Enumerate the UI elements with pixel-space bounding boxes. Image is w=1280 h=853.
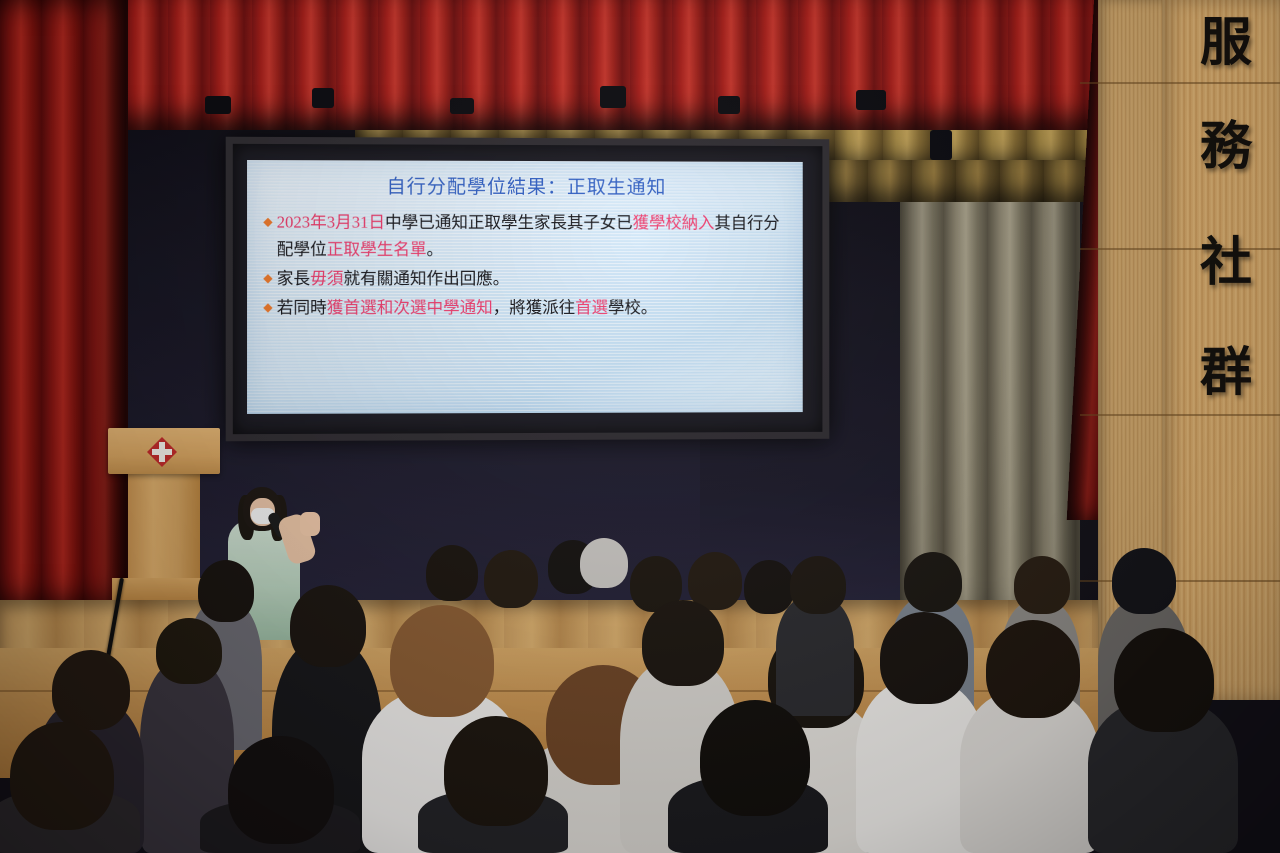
audience-member <box>880 612 968 704</box>
wood-wall-seam-3 <box>1080 414 1280 416</box>
bullet-2-seg-1: 家長 <box>277 269 310 288</box>
audience-member <box>1112 548 1176 614</box>
audience-member <box>1114 628 1214 732</box>
stage-light-4 <box>600 86 626 108</box>
bullet-3-seg-3: ，將獲派往 <box>493 298 575 317</box>
audience-member <box>228 736 334 844</box>
bullet-1-date: 2023年3月31日 <box>277 212 385 231</box>
audience-member <box>10 722 114 830</box>
stage-light-1 <box>205 96 231 114</box>
podium-cross-emblem-icon <box>146 436 178 468</box>
audience-member <box>642 600 724 686</box>
bullet-diamond-icon: ◆ <box>263 208 272 235</box>
audience-member <box>580 538 628 588</box>
speaker-hand <box>300 512 320 536</box>
stage-light-5 <box>718 96 740 114</box>
slide-title: 自行分配學位結果：正取生通知 <box>247 171 803 200</box>
slide-bullet-2-text: 家長毋須就有關通知作出回應。 <box>277 265 785 292</box>
audience-member <box>744 560 794 614</box>
wall-character-1: 服 <box>1200 18 1252 70</box>
bullet-3-seg-2: 獲首選和次選中學通知 <box>327 298 493 317</box>
audience-member <box>156 618 222 684</box>
audience-member <box>776 596 854 716</box>
wall-character-3: 社 <box>1200 238 1252 290</box>
bullet-1-seg-3: 獲學校納入 <box>633 213 715 232</box>
wood-wall-seam-1 <box>1080 82 1280 84</box>
bullet-1-seg-2: 中學已通知正取學生家長其子女已 <box>385 213 633 232</box>
podium-column <box>128 472 200 582</box>
audience-member <box>52 650 130 730</box>
audience-member <box>1014 556 1070 614</box>
slide-bullet-2: ◆ 家長毋須就有關通知作出回應。 <box>263 265 785 292</box>
bullet-3-seg-4: 首選 <box>575 298 608 317</box>
slide-bullet-3-text: 若同時獲首選和次選中學通知，將獲派往首選學校。 <box>277 294 785 321</box>
bullet-2-seg-3: 就有關通知作出回應。 <box>343 269 509 288</box>
bullet-diamond-icon: ◆ <box>263 265 272 292</box>
audience-member <box>904 552 962 612</box>
projection-screen[interactable]: 自行分配學位結果：正取生通知 ◆ 2023年3月31日中學已通知正取學生家長其子… <box>226 137 830 442</box>
hall-scene: 自行分配學位結果：正取生通知 ◆ 2023年3月31日中學已通知正取學生家長其子… <box>0 0 1280 853</box>
audience-member <box>444 716 548 826</box>
audience-member <box>426 545 478 601</box>
audience-member <box>790 556 846 614</box>
stage-light-3 <box>450 98 474 114</box>
audience-member <box>986 620 1080 718</box>
stage-light-6 <box>856 90 886 110</box>
slide-bullet-1: ◆ 2023年3月31日中學已通知正取學生家長其子女已獲學校納入其自行分配學位正… <box>263 208 785 263</box>
audience-member <box>390 605 494 717</box>
audience-member <box>484 550 538 608</box>
slide-bullet-3: ◆ 若同時獲首選和次選中學通知，將獲派往首選學校。 <box>263 294 785 321</box>
bullet-2-seg-2: 毋須 <box>310 269 343 288</box>
slide-bullet-1-text: 2023年3月31日中學已通知正取學生家長其子女已獲學校納入其自行分配學位正取學… <box>277 208 785 263</box>
bullet-1-seg-5: 正取學生名單 <box>327 240 427 259</box>
wall-character-4: 群 <box>1200 348 1252 400</box>
slide-bullet-list: ◆ 2023年3月31日中學已通知正取學生家長其子女已獲學校納入其自行分配學位正… <box>247 204 803 321</box>
bullet-1-seg-6: 。 <box>427 240 444 259</box>
wood-wall-seam-4 <box>1080 580 1280 582</box>
curtain-top-red <box>0 0 1180 130</box>
curtain-left-red <box>0 0 128 600</box>
bullet-3-seg-5: 學校。 <box>608 298 657 317</box>
bullet-diamond-icon: ◆ <box>263 294 272 321</box>
audience-member <box>198 560 254 622</box>
audience-member <box>290 585 366 667</box>
stage-light-7 <box>930 130 952 160</box>
audience-member <box>700 700 810 816</box>
presentation-slide: 自行分配學位結果：正取生通知 ◆ 2023年3月31日中學已通知正取學生家長其子… <box>247 160 803 414</box>
wall-character-2: 務 <box>1200 122 1252 174</box>
stage-light-2 <box>312 88 334 108</box>
bullet-3-seg-1: 若同時 <box>277 298 327 317</box>
